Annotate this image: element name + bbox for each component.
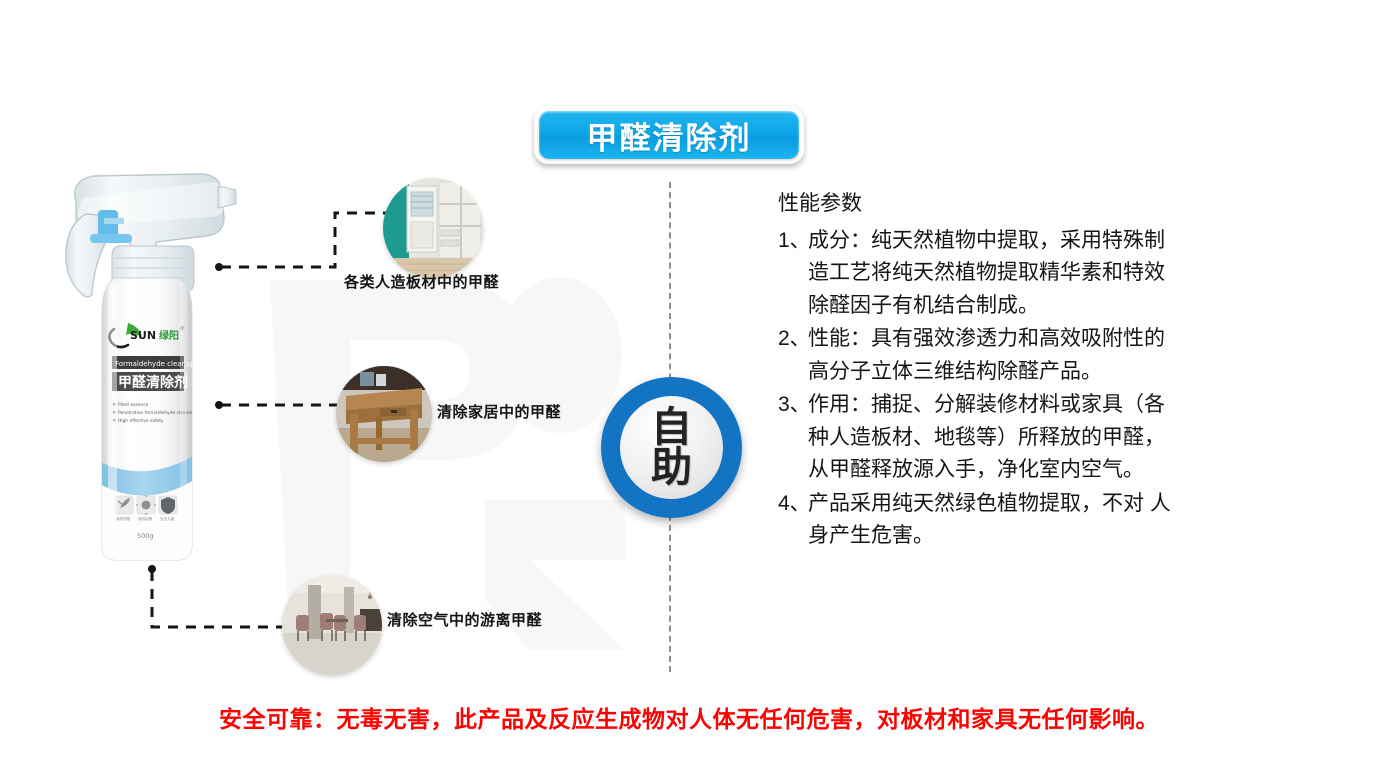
self-help-badge-inner: 自 助 [620, 396, 723, 499]
specification-panel: 性能参数 1、 成分：纯天然植物中提取，采用特殊制 造工艺将纯天然植物提取精华素… [778, 188, 1303, 554]
spec-item-4-number: 4、 [778, 488, 808, 553]
svg-text:SUN: SUN [130, 329, 156, 342]
spec-item-2: 2、 性能：具有强效渗透力和高效吸附性的 高分子立体三维结构除醛产品。 [778, 323, 1303, 388]
spec-item-3-line-2: 种人造板材、地毯等）所释放的甲醛， [808, 422, 1303, 455]
spec-item-4-line-1: 产品采用纯天然绿色植物提取，不对 人 [808, 488, 1303, 521]
spec-item-3-line-3: 从甲醛释放源入手，净化室内空气。 [808, 454, 1303, 487]
connector-line-board [215, 205, 400, 275]
wardrobe-photo [383, 178, 483, 278]
svg-text:甲醛清除剂: 甲醛清除剂 [118, 374, 188, 390]
spec-item-1-body: 成分：纯天然植物中提取，采用特殊制 造工艺将纯天然植物提取精华素和特效 除醛因子… [808, 225, 1303, 323]
self-help-badge: 自 助 [601, 377, 742, 518]
spec-item-4: 4、 产品采用纯天然绿色植物提取，不对 人 身产生危害。 [778, 488, 1303, 553]
svg-text:High effective safety: High effective safety [118, 418, 164, 424]
spec-item-3: 3、 作用：捕捉、分解装修材料或家具（各 种人造板材、地毯等）所释放的甲醛， 从… [778, 389, 1303, 487]
self-help-char-bottom: 助 [651, 448, 692, 488]
spec-item-3-number: 3、 [778, 389, 808, 487]
product-bottle-image: SUN 绿阳 ® Formaldehyde clear spray 甲醛清除剂 … [52, 160, 242, 580]
svg-text:植物提取: 植物提取 [116, 516, 131, 521]
spec-item-2-body: 性能：具有强效渗透力和高效吸附性的 高分子立体三维结构除醛产品。 [808, 323, 1303, 388]
spec-item-4-body: 产品采用纯天然绿色植物提取，不对 人 身产生危害。 [808, 488, 1303, 553]
interior-room-photo [282, 575, 382, 675]
spec-item-1-line-2: 造工艺将纯天然植物提取精华素和特效 [808, 257, 1303, 290]
spec-item-1-number: 1、 [778, 225, 808, 323]
callout-label-board: 各类人造板材中的甲醛 [344, 271, 499, 292]
self-help-char-top: 自 [651, 408, 692, 448]
spec-item-2-line-2: 高分子立体三维结构除醛产品。 [808, 356, 1303, 389]
spec-heading: 性能参数 [778, 188, 1303, 220]
spec-item-2-line-1: 性能：具有强效渗透力和高效吸附性的 [808, 323, 1303, 356]
spec-item-1-line-3: 除醛因子有机结合制成。 [808, 290, 1303, 323]
svg-text:绿阳: 绿阳 [159, 329, 179, 342]
title-banner-inner: 甲醛清除剂 [539, 111, 799, 159]
spec-item-2-number: 2、 [778, 323, 808, 388]
callout-label-air: 清除空气中的游离甲醛 [387, 609, 542, 630]
page-title: 甲醛清除剂 [587, 113, 752, 158]
safety-statement: 安全可靠：无毒无害，此产品及反应生成物对人体无任何危害，对板材和家具无任何影响。 [0, 700, 1378, 734]
wooden-table-photo [336, 366, 432, 462]
spec-item-3-body: 作用：捕捉、分解装修材料或家具（各 种人造板材、地毯等）所释放的甲醛， 从甲醛释… [808, 389, 1303, 487]
callout-label-home: 清除家居中的甲醛 [437, 401, 561, 422]
svg-text:500g: 500g [137, 532, 154, 540]
svg-text:强效除醛: 强效除醛 [138, 516, 153, 521]
spec-item-4-line-2: 身产生危害。 [808, 520, 1303, 553]
spec-item-1-line-1: 成分：纯天然植物中提取，采用特殊制 [808, 225, 1303, 258]
title-banner: 甲醛清除剂 [534, 106, 804, 164]
svg-text:安全无害: 安全无害 [160, 516, 175, 521]
svg-text:Plant essence: Plant essence [118, 402, 149, 408]
spec-item-1: 1、 成分：纯天然植物中提取，采用特殊制 造工艺将纯天然植物提取精华素和特效 除… [778, 225, 1303, 323]
spec-item-3-line-1: 作用：捕捉、分解装修材料或家具（各 [808, 389, 1303, 422]
